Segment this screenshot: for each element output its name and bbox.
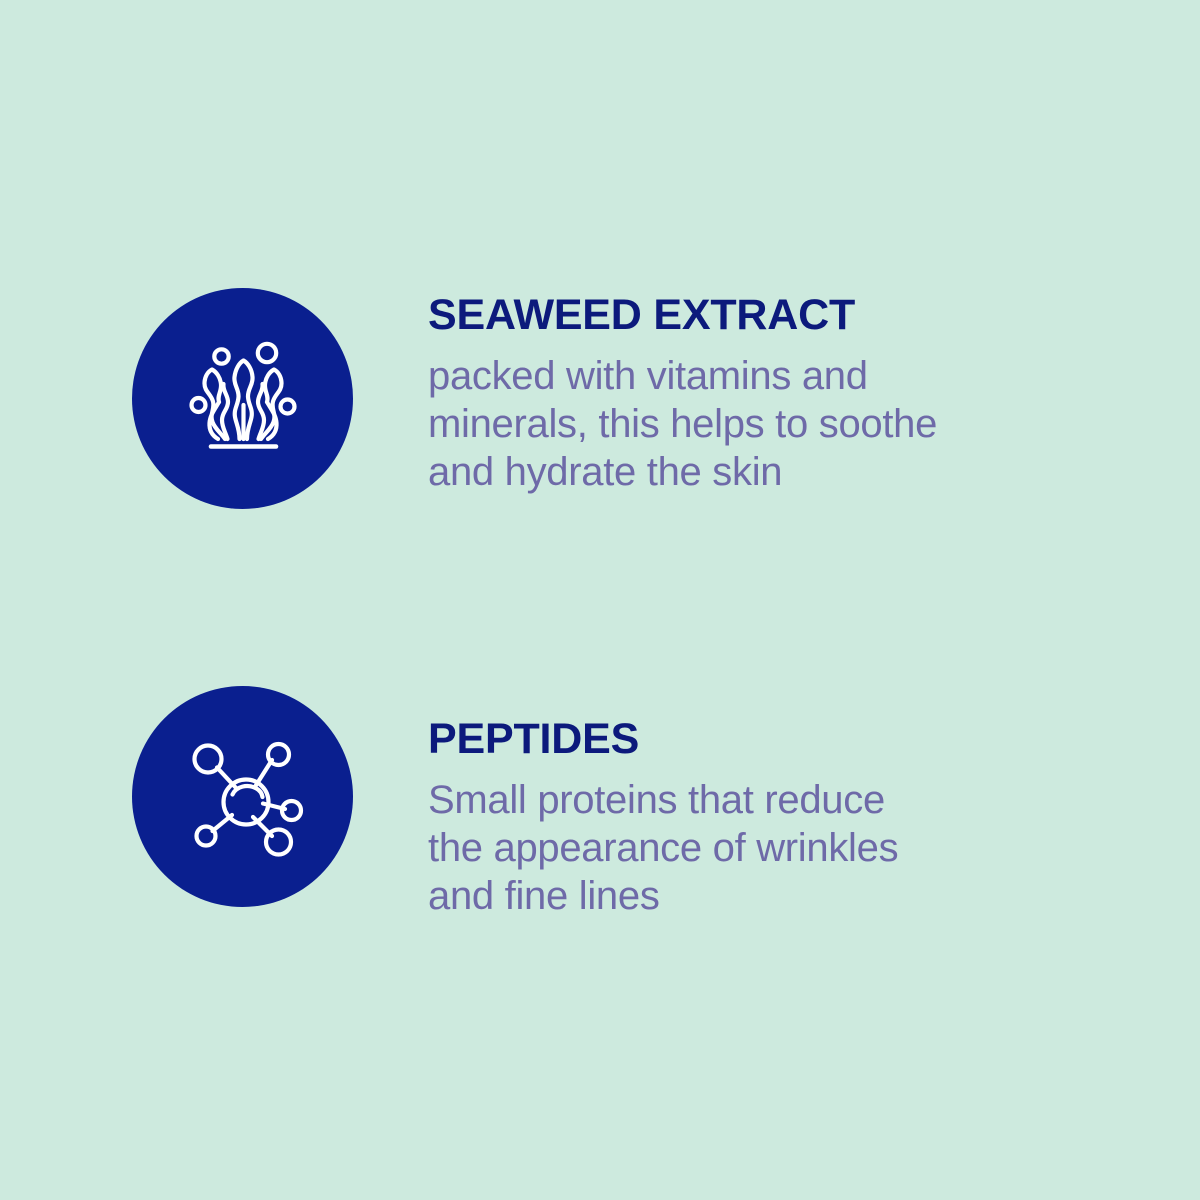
feature-description-line: minerals, this helps to soothe <box>428 400 1028 448</box>
seaweed-icon-badge <box>132 288 353 509</box>
feature-description-line: Small proteins that reduce <box>428 776 1028 824</box>
feature-title: PEPTIDES <box>428 714 1028 764</box>
feature-description-line: the appearance of wrinkles <box>428 824 1028 872</box>
feature-description: packed with vitamins and minerals, this … <box>428 352 1028 496</box>
feature-item-seaweed-extract: SEAWEED EXTRACT packed with vitamins and… <box>0 288 1200 509</box>
feature-description: Small proteins that reduce the appearanc… <box>428 776 1028 920</box>
seaweed-icon <box>177 333 309 465</box>
molecule-icon-badge <box>132 686 353 907</box>
feature-description-line: packed with vitamins and <box>428 352 1028 400</box>
feature-description-line: and hydrate the skin <box>428 448 1028 496</box>
feature-description-line: and fine lines <box>428 872 1028 920</box>
molecule-icon <box>177 731 309 863</box>
ingredient-benefits-panel: SEAWEED EXTRACT packed with vitamins and… <box>0 0 1200 1200</box>
feature-item-peptides: PEPTIDES Small proteins that reduce the … <box>0 686 1200 920</box>
feature-title: SEAWEED EXTRACT <box>428 290 1028 340</box>
feature-text-peptides: PEPTIDES Small proteins that reduce the … <box>428 686 1028 920</box>
feature-text-seaweed-extract: SEAWEED EXTRACT packed with vitamins and… <box>428 288 1028 496</box>
